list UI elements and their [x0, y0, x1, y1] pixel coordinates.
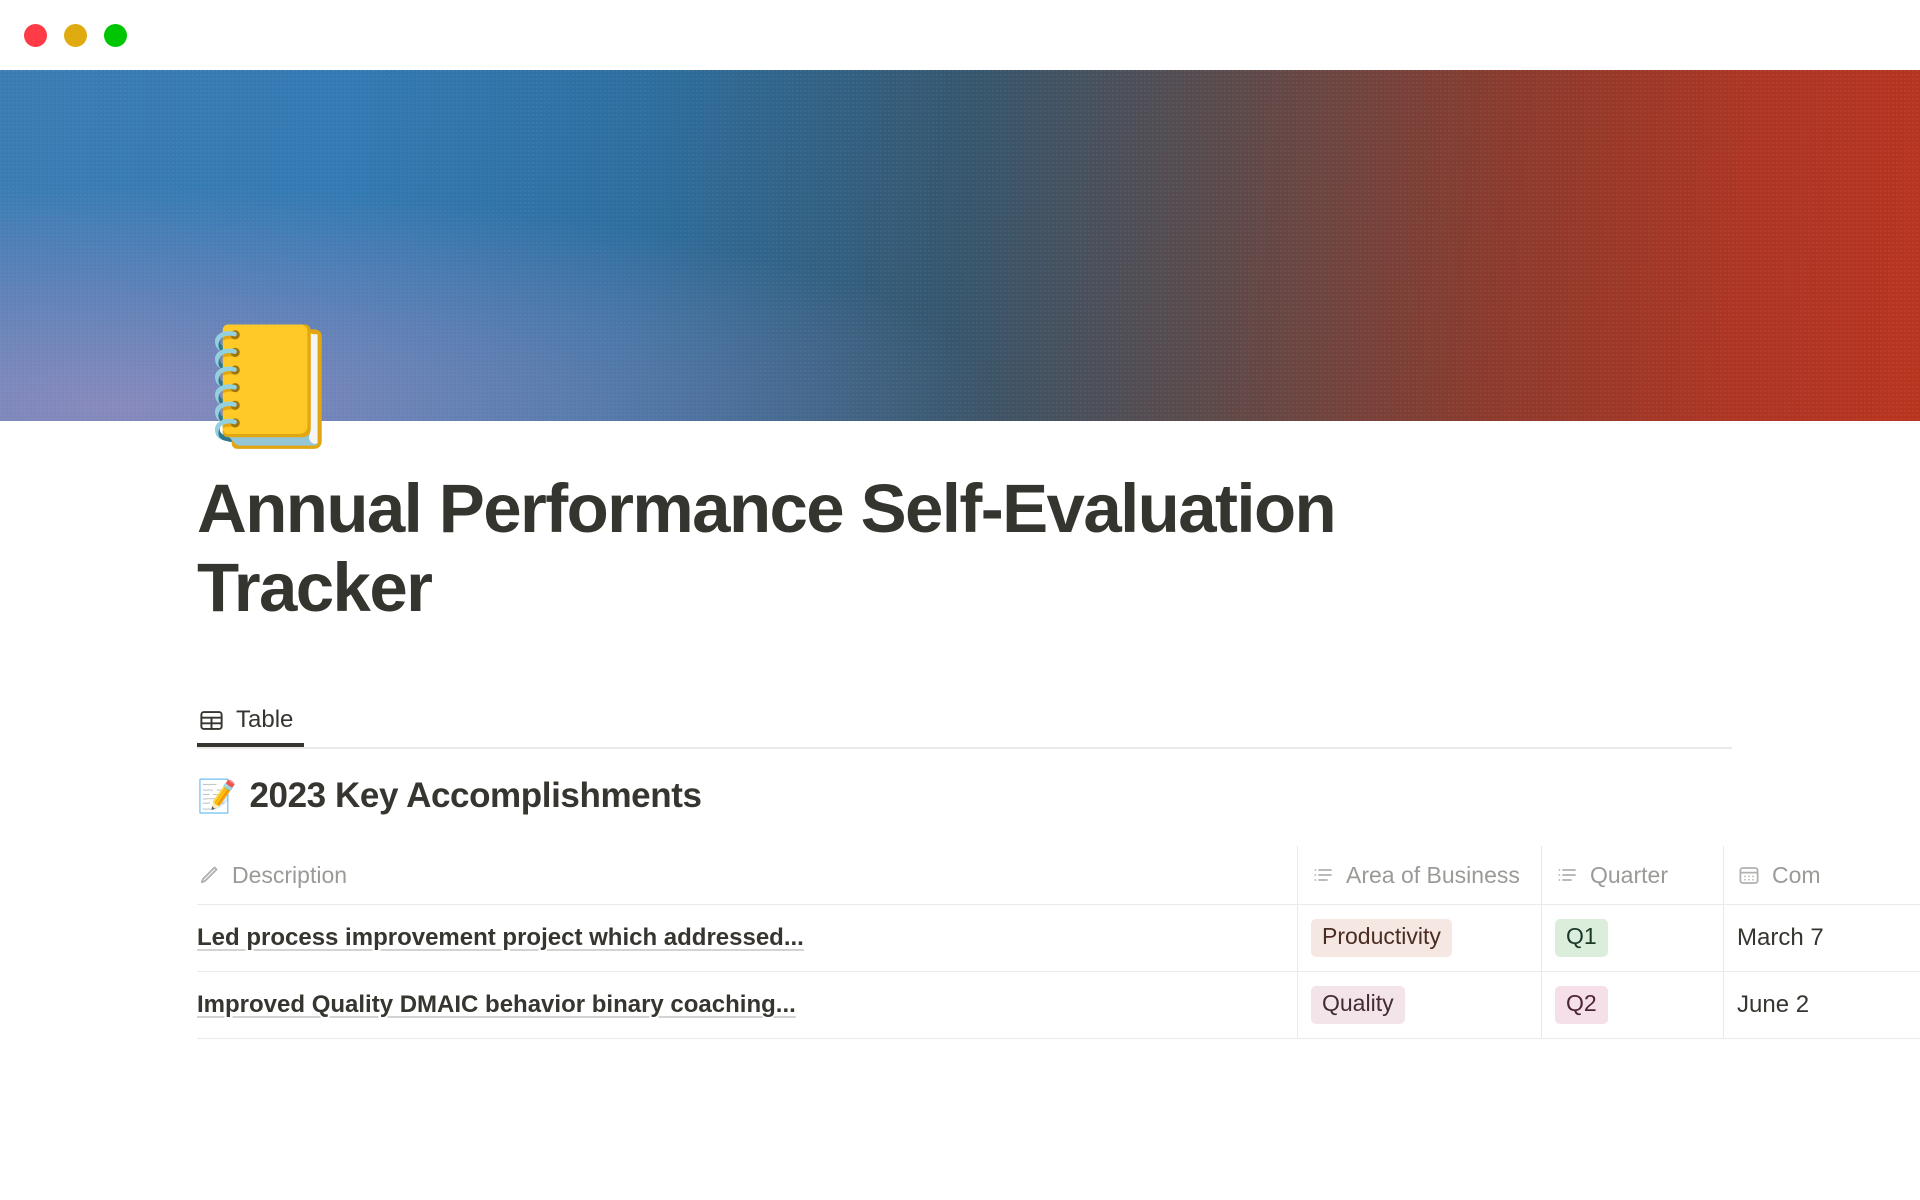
column-header-area-of-business[interactable]: Area of Business — [1297, 846, 1541, 904]
calendar-icon — [1737, 863, 1761, 887]
traffic-lights — [24, 24, 127, 47]
list-icon — [1555, 863, 1579, 887]
table-row[interactable]: Improved Quality DMAIC behavior binary c… — [197, 972, 1920, 1039]
cell-completed[interactable]: March 7 — [1723, 905, 1920, 971]
column-header-area-of-business-label: Area of Business — [1346, 862, 1520, 889]
date-value: June 2 — [1737, 991, 1809, 1019]
tag-area-of-business[interactable]: Quality — [1311, 986, 1405, 1024]
date-value: March 7 — [1737, 924, 1824, 952]
close-window-button[interactable] — [24, 24, 47, 47]
column-header-completed[interactable]: Com — [1723, 846, 1920, 904]
cell-quarter[interactable]: Q1 — [1541, 905, 1723, 971]
table-icon — [198, 707, 225, 734]
cell-description[interactable]: Led process improvement project which ad… — [197, 905, 1297, 971]
column-header-description-label: Description — [232, 862, 347, 889]
view-tab-bar: Table — [197, 697, 1732, 749]
maximize-window-button[interactable] — [104, 24, 127, 47]
table-row[interactable]: Led process improvement project which ad… — [197, 905, 1920, 972]
cell-description[interactable]: Improved Quality DMAIC behavior binary c… — [197, 972, 1297, 1038]
cell-area-of-business[interactable]: Productivity — [1297, 905, 1541, 971]
row-title-link[interactable]: Improved Quality DMAIC behavior binary c… — [197, 991, 796, 1019]
cell-completed[interactable]: June 2 — [1723, 972, 1920, 1038]
minimize-window-button[interactable] — [64, 24, 87, 47]
tab-table[interactable]: Table — [197, 697, 304, 747]
database-table: Description Area of Business — [197, 846, 1920, 1039]
cell-quarter[interactable]: Q2 — [1541, 972, 1723, 1038]
page-icon[interactable]: 📒 — [196, 328, 343, 446]
row-title-link[interactable]: Led process improvement project which ad… — [197, 924, 804, 952]
column-header-completed-label: Com — [1772, 862, 1821, 889]
page-title[interactable]: Annual Performance Self-Evaluation Track… — [197, 470, 1557, 627]
list-icon — [1311, 863, 1335, 887]
tag-quarter[interactable]: Q2 — [1555, 986, 1608, 1024]
window-title-bar — [0, 0, 1920, 70]
tag-area-of-business[interactable]: Productivity — [1311, 919, 1452, 957]
column-header-quarter-label: Quarter — [1590, 862, 1668, 889]
cell-area-of-business[interactable]: Quality — [1297, 972, 1541, 1038]
column-header-description[interactable]: Description — [197, 846, 1297, 904]
column-header-quarter[interactable]: Quarter — [1541, 846, 1723, 904]
memo-icon: 📝 — [197, 780, 236, 812]
tab-table-label: Table — [236, 706, 293, 734]
tag-quarter[interactable]: Q1 — [1555, 919, 1608, 957]
table-header-row: Description Area of Business — [197, 846, 1920, 905]
section-heading: 📝 2023 Key Accomplishments — [197, 776, 702, 816]
pencil-icon — [197, 863, 221, 887]
section-heading-label: 2023 Key Accomplishments — [249, 776, 701, 816]
page-content: Annual Performance Self-Evaluation Track… — [0, 421, 1920, 1200]
